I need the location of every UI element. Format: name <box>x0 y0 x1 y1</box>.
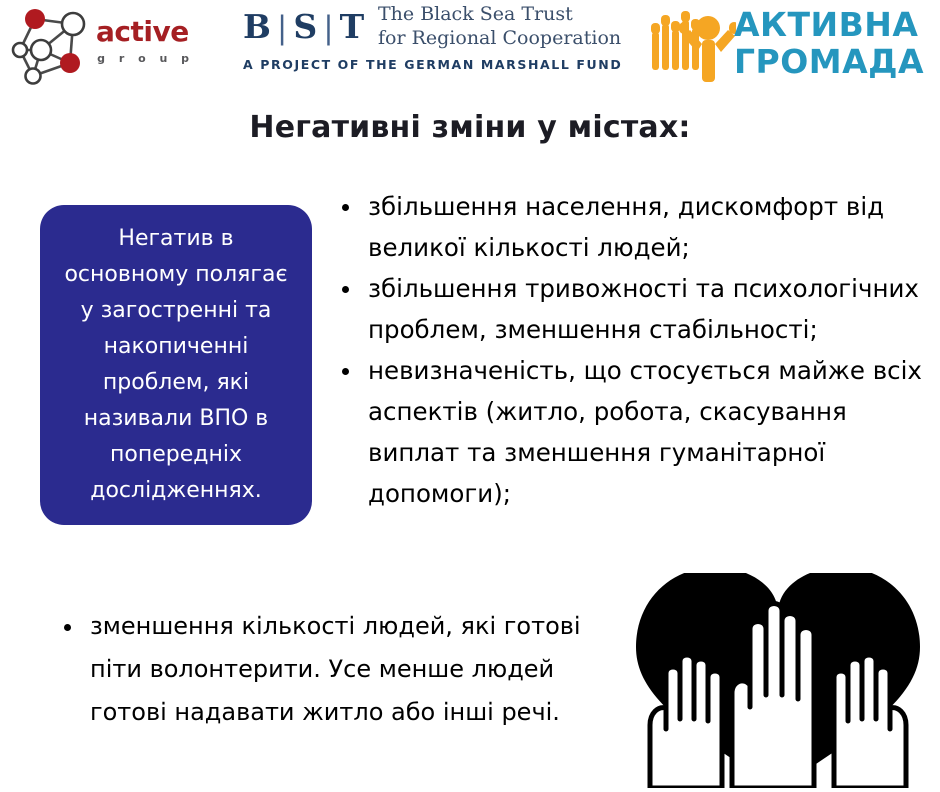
logo-strip: active g r o u p B|S|T The Black Sea Tru… <box>0 0 940 92</box>
list-item: невизначеність, що стосується майже всіх… <box>336 350 936 514</box>
black-sea-trust-logo: B|S|T The Black Sea Trust for Regional C… <box>243 5 623 85</box>
bst-tagline-line1: The Black Sea Trust <box>378 2 621 26</box>
aktyvna-hromada-line2: ГРОМАДА <box>734 43 924 80</box>
bullet-list: збільшення населення, дискомфорт від вел… <box>336 186 936 514</box>
bst-lockup: B|S|T The Black Sea Trust for Regional C… <box>243 5 623 51</box>
list-item: збільшення тривожності та психологічних … <box>336 268 936 350</box>
callout-box: Негатив в основному полягає у загостренн… <box>40 205 312 525</box>
bullet-list-bottom-left: зменшення кількості людей, які готові пі… <box>58 605 618 734</box>
bst-divider-2: | <box>317 10 339 46</box>
list-item: збільшення населення, дискомфорт від вел… <box>336 186 936 268</box>
aktyvna-hromada-logo: АКТИВНА ГРОМАДА <box>650 4 935 88</box>
active-group-word-sub: g r o u p <box>96 52 196 65</box>
bst-divider-1: | <box>271 10 293 46</box>
bst-letters: B|S|T <box>243 5 364 50</box>
active-group-logo: active g r o u p <box>8 6 193 88</box>
bst-letter-s: S <box>293 7 317 46</box>
network-graph-icon <box>8 6 94 88</box>
active-group-wordmark: active g r o u p <box>96 18 196 65</box>
callout-text: Негатив в основному полягає у загостренн… <box>56 221 296 509</box>
bst-tagline: The Black Sea Trust for Regional Coopera… <box>378 2 621 50</box>
page-title: Негативні зміни у містах: <box>0 110 940 145</box>
heart-with-hands-illustration <box>628 573 928 788</box>
bullet-list-right: збільшення населення, дискомфорт від вел… <box>336 186 936 514</box>
aktyvna-hromada-wordmark: АКТИВНА ГРОМАДА <box>734 6 924 80</box>
active-group-word-main: active <box>96 18 196 46</box>
bst-project-line: A PROJECT OF THE GERMAN MARSHALL FUND <box>243 57 622 72</box>
raised-hands-person-icon <box>650 6 736 82</box>
bst-letter-b: B <box>243 7 271 46</box>
list-item: зменшення кількості людей, які готові пі… <box>58 605 618 734</box>
bst-tagline-line2: for Regional Cooperation <box>378 26 621 50</box>
aktyvna-hromada-line1: АКТИВНА <box>734 6 924 43</box>
bullet-list: зменшення кількості людей, які готові пі… <box>58 605 618 734</box>
bst-letter-t: T <box>340 7 365 46</box>
